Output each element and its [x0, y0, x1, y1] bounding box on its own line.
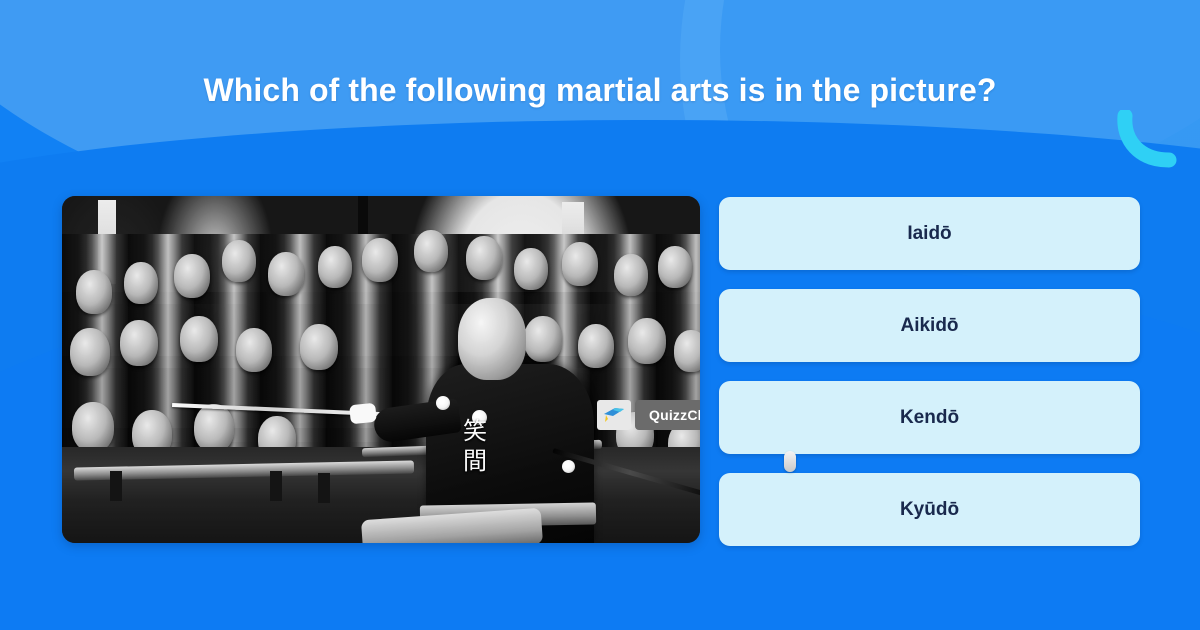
photo-person-head [300, 324, 338, 370]
photo-kimono-crest [436, 396, 450, 410]
photo-person-head [222, 240, 256, 282]
photo-person-head [318, 246, 352, 288]
photo-person-head [124, 262, 158, 304]
photo-person-head [414, 230, 448, 272]
watermark-brand: QuizzClub [635, 400, 700, 430]
answer-options: Iaidō Aikidō Kendō Kyūdō [719, 197, 1140, 565]
photo-person-head [268, 252, 304, 296]
cursor-indicator[interactable] [784, 451, 796, 472]
photo-backdrop: 笑間 [62, 196, 700, 543]
photo-person-head [180, 316, 218, 362]
photo-person-head [194, 404, 234, 452]
photo-bench-leg [318, 473, 330, 503]
photo-person-head [72, 402, 114, 452]
photo-person-head [362, 238, 398, 282]
page-title: Which of the following martial arts is i… [0, 72, 1200, 109]
photo-swordsman-head [458, 298, 526, 380]
quiz-card: Which of the following martial arts is i… [0, 0, 1200, 630]
photo-person-head [236, 328, 272, 372]
photo-person-head [70, 328, 110, 376]
photo-person-head [466, 236, 502, 280]
answer-option-4[interactable]: Kyūdō [719, 473, 1140, 546]
photo-person-head [614, 254, 648, 296]
answer-option-1[interactable]: Iaidō [719, 197, 1140, 270]
photo-bench-leg [110, 471, 122, 501]
photo-person-head [120, 320, 158, 366]
question-image: 笑間 QuizzClub [62, 196, 700, 543]
photo-person-head [76, 270, 112, 314]
photo-person-head [514, 248, 548, 290]
photo-bench-leg [270, 471, 282, 501]
photo-person-head [628, 318, 666, 364]
photo-person-head [174, 254, 210, 298]
answer-option-2[interactable]: Aikidō [719, 289, 1140, 362]
photo-kimono-crest [562, 460, 575, 473]
photo-person-head [658, 246, 692, 288]
photo-kanji-overlay: 笑間 [462, 416, 488, 478]
photo-person-head [674, 330, 700, 372]
watermark: QuizzClub [597, 400, 700, 430]
photo-swordsman-hand [349, 403, 377, 425]
quizzclub-logo-icon [597, 400, 631, 430]
answer-option-3[interactable]: Kendō [719, 381, 1140, 454]
photo-person-head [562, 242, 598, 286]
photo-swordsman: 笑間 [392, 292, 622, 543]
crescent-arc-icon [1113, 110, 1183, 172]
